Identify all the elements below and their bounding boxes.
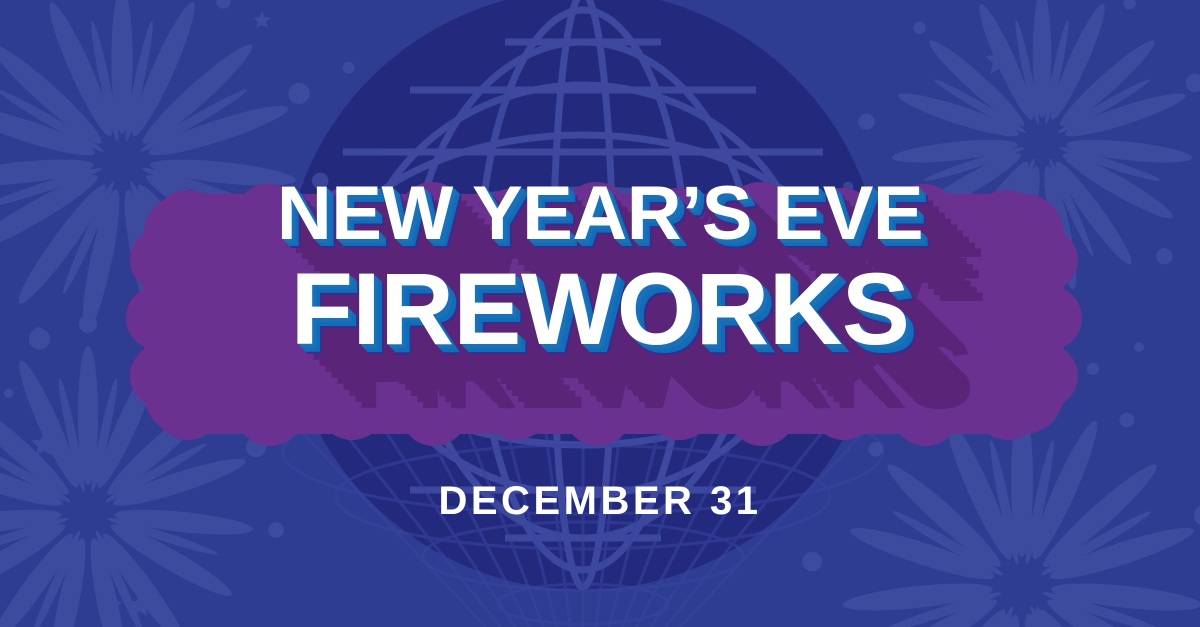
headline: NEW YEAR’S EVE FIREWORKS (0, 176, 1200, 360)
event-date: DECEMBER 31 (0, 479, 1200, 524)
headline-line-2: FIREWORKS (0, 258, 1200, 360)
headline-line-1: NEW YEAR’S EVE (0, 176, 1200, 252)
poster-canvas: NEW YEAR’S EVE FIREWORKS DECEMBER 31 (0, 0, 1200, 627)
